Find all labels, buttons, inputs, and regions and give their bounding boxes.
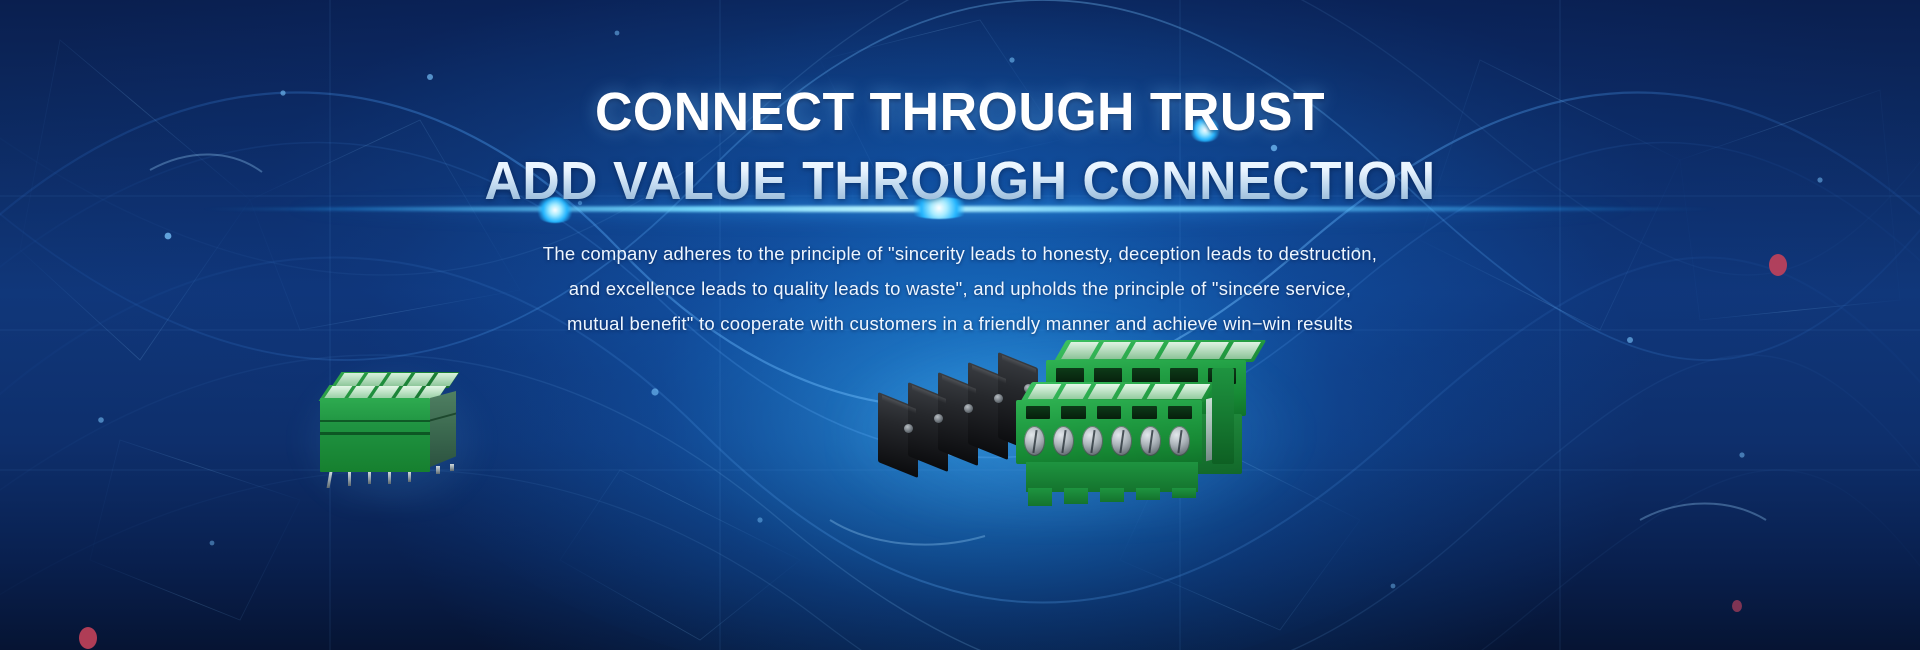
rear-block-cage-openings [1061, 342, 1261, 359]
subcopy-line-1: The company adheres to the principle of … [430, 236, 1490, 271]
headline-line-1: CONNECT THROUGH TRUST [38, 78, 1881, 147]
black-block-screw [934, 414, 943, 423]
front-block-wire-slots [1026, 406, 1192, 419]
black-block-screw [994, 394, 1003, 403]
front-block-cage-openings [1028, 384, 1211, 399]
rear-block-side [1212, 368, 1234, 464]
product-image-left [318, 372, 468, 492]
terminal-body-front [320, 398, 430, 472]
terminal-screw [1082, 426, 1103, 456]
terminal-screw [1140, 426, 1161, 456]
black-block-screw [904, 424, 913, 433]
headline-line-2: ADD VALUE THROUGH CONNECTION [38, 147, 1881, 216]
hero-banner: CONNECT THROUGH TRUST ADD VALUE THROUGH … [0, 0, 1920, 650]
black-block-screw [964, 404, 973, 413]
headline-block: CONNECT THROUGH TRUST ADD VALUE THROUGH … [0, 78, 1920, 216]
pin [436, 466, 440, 474]
terminal-screw [1024, 426, 1045, 456]
subcopy-line-3: mutual benefit" to cooperate with custom… [430, 306, 1490, 341]
subcopy-line-2: and excellence leads to quality leads to… [430, 271, 1490, 306]
subcopy-block: The company adheres to the principle of … [430, 236, 1490, 341]
pin [450, 464, 454, 471]
body-seam-lower [320, 432, 430, 435]
terminal-screw [1111, 426, 1132, 456]
cage-openings-back [336, 373, 459, 386]
pin [408, 472, 411, 482]
terminal-body-side [430, 391, 456, 467]
pin [388, 472, 391, 484]
pin [368, 472, 371, 484]
pin [348, 472, 351, 486]
product-image-right [876, 338, 1276, 506]
body-seam-upper [320, 420, 430, 422]
front-block-legs [1028, 488, 1196, 506]
terminal-screw [1169, 426, 1190, 456]
terminal-screw [1053, 426, 1074, 456]
